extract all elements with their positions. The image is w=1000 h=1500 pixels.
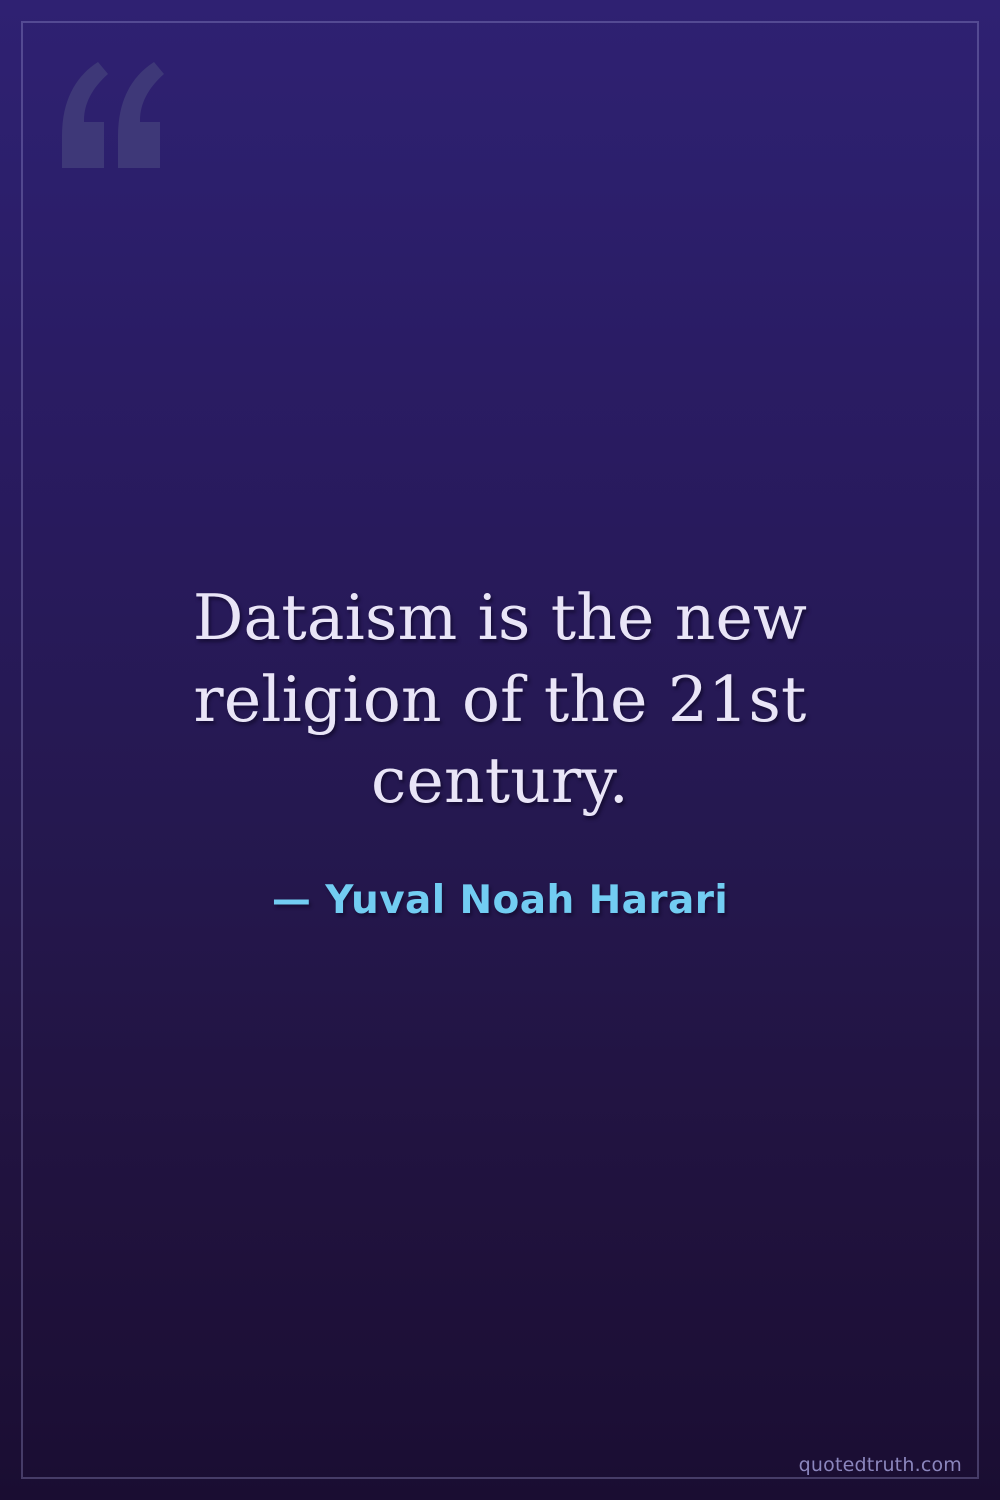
quote-content-block: Dataism is the new religion of the 21st … — [0, 0, 1000, 1500]
quote-poster: Dataism is the new religion of the 21st … — [0, 0, 1000, 1500]
quote-author: — Yuval Noah Harari — [272, 878, 728, 923]
quote-text: Dataism is the new religion of the 21st … — [90, 577, 910, 823]
site-watermark: quotedtruth.com — [799, 1454, 962, 1476]
